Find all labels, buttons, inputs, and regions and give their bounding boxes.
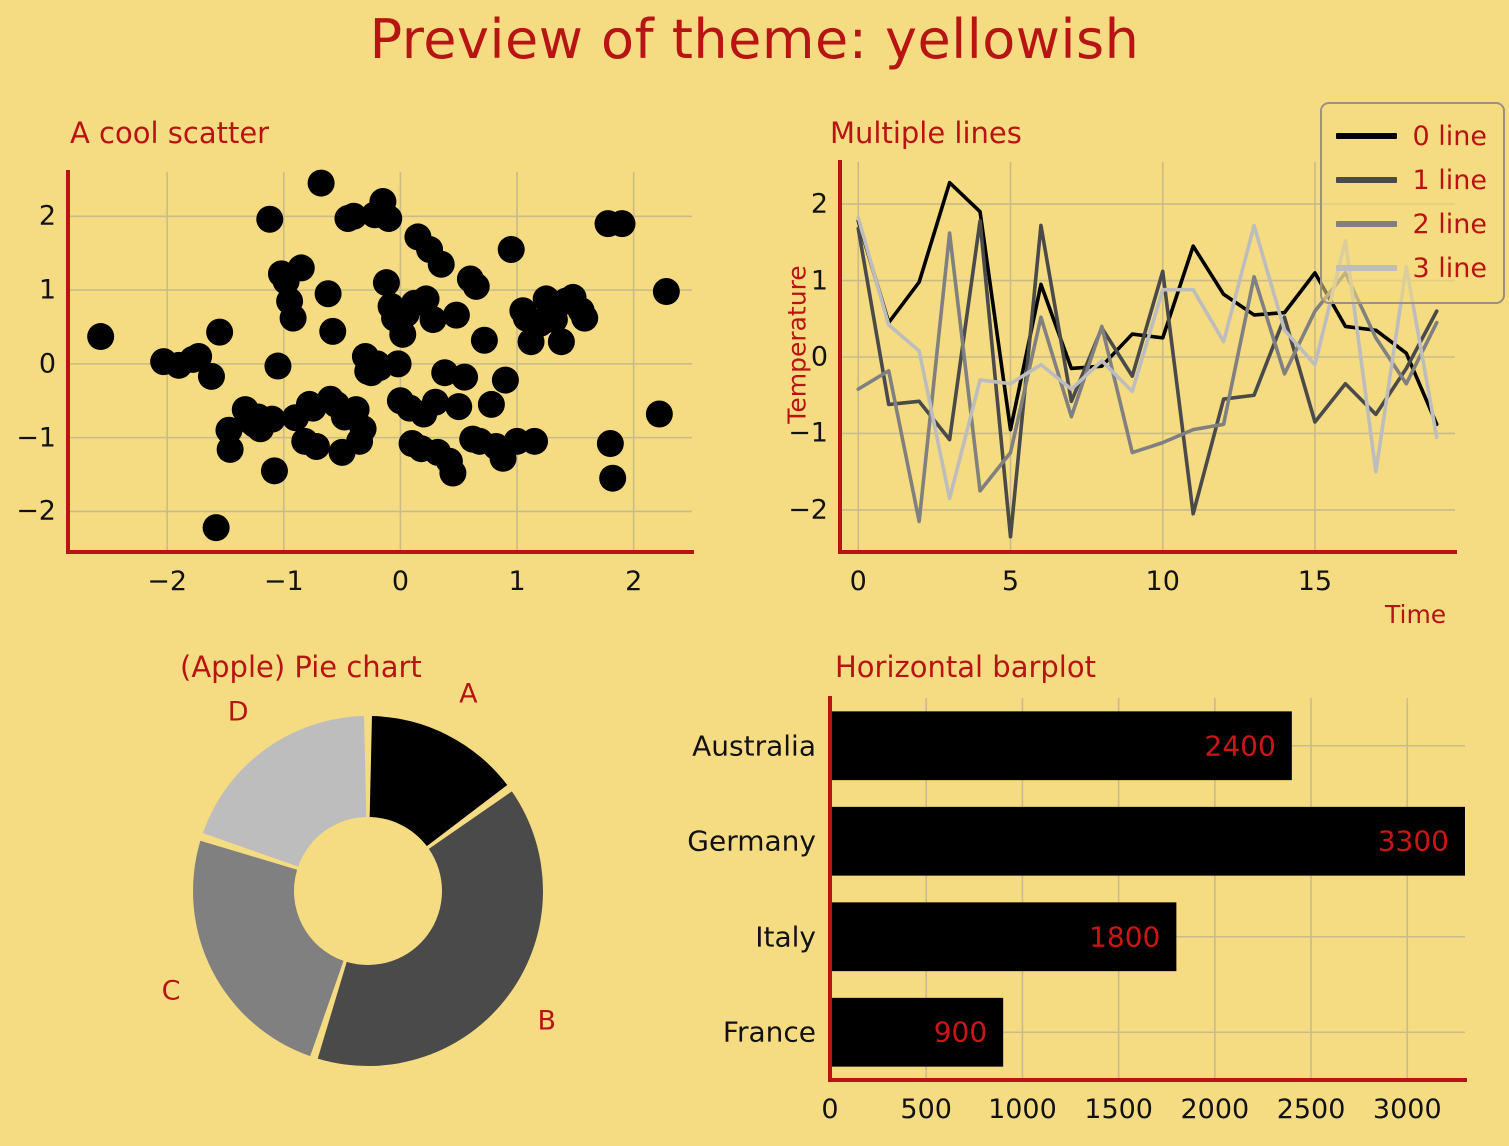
bar-category-label: France [723,1016,816,1049]
bar-x-tick: 3000 [1373,1094,1442,1125]
pie-slice[interactable] [203,716,366,866]
pie-panel: (Apple) Pie chart ABCD [0,640,740,1146]
bar[interactable] [830,807,1465,876]
pie-slice-label: B [538,1005,557,1036]
legend-color-swatch [1336,177,1397,183]
bar-value-label: 2400 [1205,729,1276,762]
scatter-x-tick: 1 [508,566,525,597]
lines-x-tick: 10 [1146,566,1180,597]
bar-value-label: 1800 [1089,920,1160,953]
bar-panel: Horizontal barplot 2400Australia3300Germ… [690,640,1509,1146]
bar-x-tick: 2500 [1277,1094,1346,1125]
scatter-y-tick: 1 [10,275,56,306]
lines-panel: Multiple lines 051015210−1−2 Temperature… [745,100,1509,640]
scatter-y-tick: 2 [10,201,56,232]
scatter-panel: A cool scatter −2−1012210−1−2 [0,100,740,620]
bar-x-tick: 500 [900,1094,952,1125]
lines-legend[interactable]: 0 line1 line2 line3 line [1320,102,1505,304]
scatter-x-tick: −1 [264,566,304,597]
bar-x-tick: 1500 [1084,1094,1153,1125]
bar-x-tick: 2000 [1180,1094,1249,1125]
bar-category-label: Italy [755,920,816,953]
lines-y-tick: −2 [782,494,828,525]
lines-x-tick: 15 [1298,566,1332,597]
lines-x-axis-label: Time [1385,600,1446,629]
lines-y-axis-label: Temperature [783,265,812,423]
legend-item-label: 3 line [1413,253,1488,284]
bar-title: Horizontal barplot [835,650,1096,684]
pie-slice-label: C [162,976,181,1007]
page-title: Preview of theme: yellowish [0,8,1509,71]
bar-value-label: 3300 [1378,825,1449,858]
scatter-y-tick: −1 [10,422,56,453]
bar-category-label: Germany [687,825,816,858]
legend-item-label: 2 line [1413,209,1488,240]
scatter-x-tick: 0 [392,566,409,597]
scatter-x-tick: −2 [147,566,187,597]
bar-value-label: 900 [934,1016,987,1049]
pie-slice-label: A [459,679,477,710]
bar-x-tick: 1000 [988,1094,1057,1125]
scatter-title: A cool scatter [70,116,269,150]
lines-x-tick: 5 [1002,566,1019,597]
lines-x-tick: 0 [850,566,867,597]
legend-color-swatch [1336,265,1397,271]
legend-item-label: 1 line [1413,165,1488,196]
legend-item[interactable]: 2 line [1336,202,1487,246]
scatter-y-tick: −2 [10,496,56,527]
pie-title: (Apple) Pie chart [180,650,422,684]
pie-chart [0,676,740,1146]
bar-category-label: Australia [692,729,816,762]
lines-y-tick: 2 [782,189,828,220]
scatter-x-tick: 2 [625,566,642,597]
pie-slice-label: D [228,697,249,728]
legend-item[interactable]: 3 line [1336,246,1487,290]
legend-color-swatch [1336,133,1397,139]
scatter-plot [0,100,740,620]
legend-color-swatch [1336,221,1397,227]
lines-title: Multiple lines [830,116,1022,150]
scatter-y-tick: 0 [10,348,56,379]
legend-item-label: 0 line [1413,121,1488,152]
theme-preview-page: Preview of theme: yellowish A cool scatt… [0,0,1509,1146]
legend-item[interactable]: 0 line [1336,114,1487,158]
bar-x-tick: 0 [821,1094,838,1125]
legend-item[interactable]: 1 line [1336,158,1487,202]
pie-slice[interactable] [193,841,344,1056]
